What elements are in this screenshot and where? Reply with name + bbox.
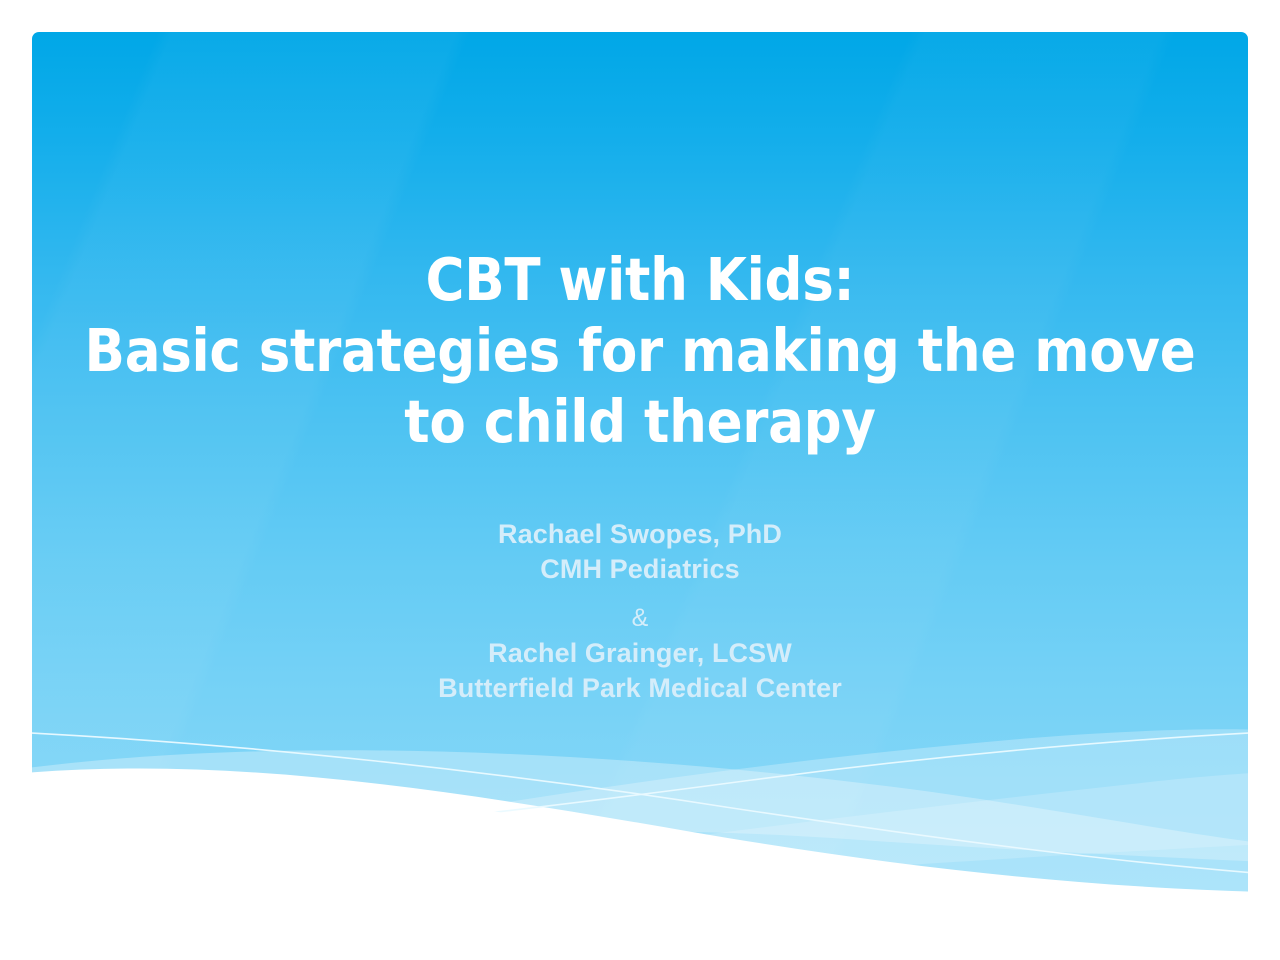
- slide-subtitle: Rachael Swopes, PhD CMH Pediatrics & Rac…: [32, 517, 1248, 706]
- presenter-two-name: Rachel Grainger, LCSW: [32, 636, 1248, 671]
- slide-canvas: CBT with Kids: Basic strategies for maki…: [0, 0, 1280, 960]
- slide-background-panel: CBT with Kids: Basic strategies for maki…: [32, 32, 1248, 902]
- title-line-2: Basic strategies for making the move: [32, 315, 1248, 386]
- presenter-conjunction: &: [32, 601, 1248, 636]
- presenter-one-affiliation: CMH Pediatrics: [32, 552, 1248, 587]
- presenter-one: Rachael Swopes, PhD CMH Pediatrics: [32, 517, 1248, 587]
- subtitle-spacer: [32, 587, 1248, 601]
- title-line-1: CBT with Kids:: [32, 244, 1248, 315]
- slide-title: CBT with Kids: Basic strategies for maki…: [32, 244, 1248, 457]
- presenter-two: Rachel Grainger, LCSW Butterfield Park M…: [32, 636, 1248, 706]
- title-line-3: to child therapy: [32, 386, 1248, 457]
- presenter-two-affiliation: Butterfield Park Medical Center: [32, 671, 1248, 706]
- slide-text-stack: CBT with Kids: Basic strategies for maki…: [32, 32, 1248, 902]
- presenter-one-name: Rachael Swopes, PhD: [32, 517, 1248, 552]
